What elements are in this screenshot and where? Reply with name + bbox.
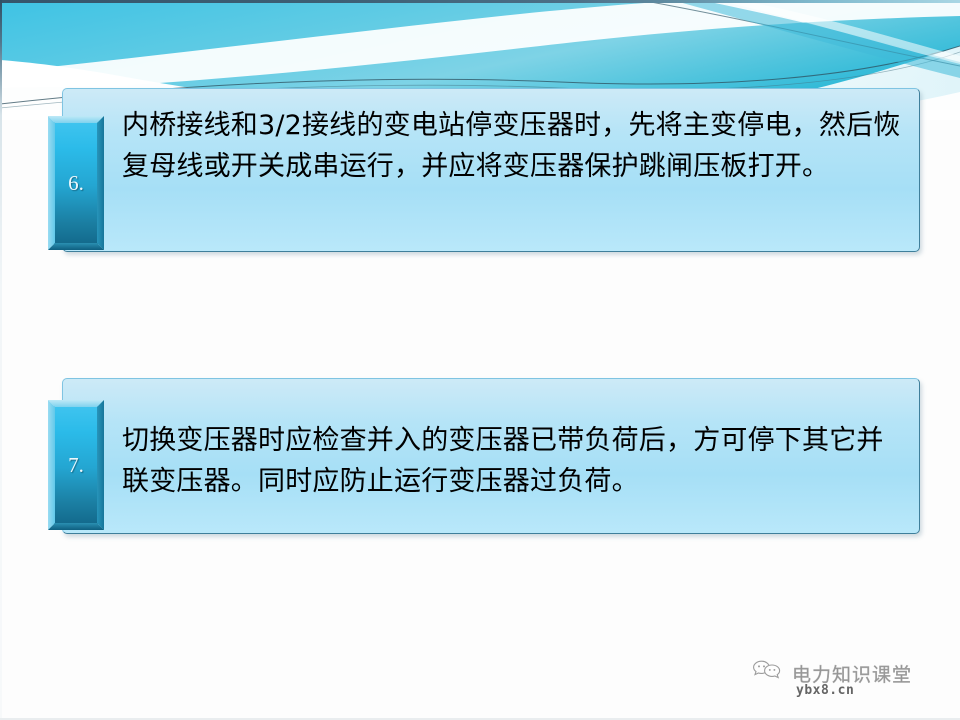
badge-bevel-left (48, 116, 55, 250)
slide-top-border (0, 0, 960, 3)
slide-left-border (0, 0, 2, 720)
badge-bevel-bottom (48, 523, 104, 530)
badge-bevel-right (97, 400, 104, 530)
watermark: 电力知识课堂 ybx8.cn (752, 658, 912, 688)
badge-bevel-bottom (48, 243, 104, 250)
badge-bevel-right (97, 116, 104, 250)
badge-number-label: 7. (68, 453, 84, 478)
wechat-bubble-icon (752, 658, 786, 688)
watermark-url: ybx8.cn (796, 683, 854, 698)
callout-text-6: 内桥接线和3/2接线的变电站停变压器时，先将主变停电，然后恢复母线或开关成串运行… (122, 105, 902, 187)
callout-text-7: 切换变压器时应检查并入的变压器已带负荷后，方可停下其它并联变压器。同时应防止运行… (122, 420, 902, 502)
callout-number-badge-7: 7. (48, 400, 104, 530)
badge-face: 6. (54, 122, 98, 244)
badge-bevel-top (48, 400, 104, 407)
slide-canvas: 6. 内桥接线和3/2接线的变电站停变压器时，先将主变停电，然后恢复母线或开关成… (0, 0, 960, 720)
badge-face: 7. (54, 406, 98, 524)
badge-bevel-top (48, 116, 104, 123)
badge-number-label: 6. (68, 171, 84, 196)
callout-number-badge-6: 6. (48, 116, 104, 250)
badge-bevel-left (48, 400, 55, 530)
